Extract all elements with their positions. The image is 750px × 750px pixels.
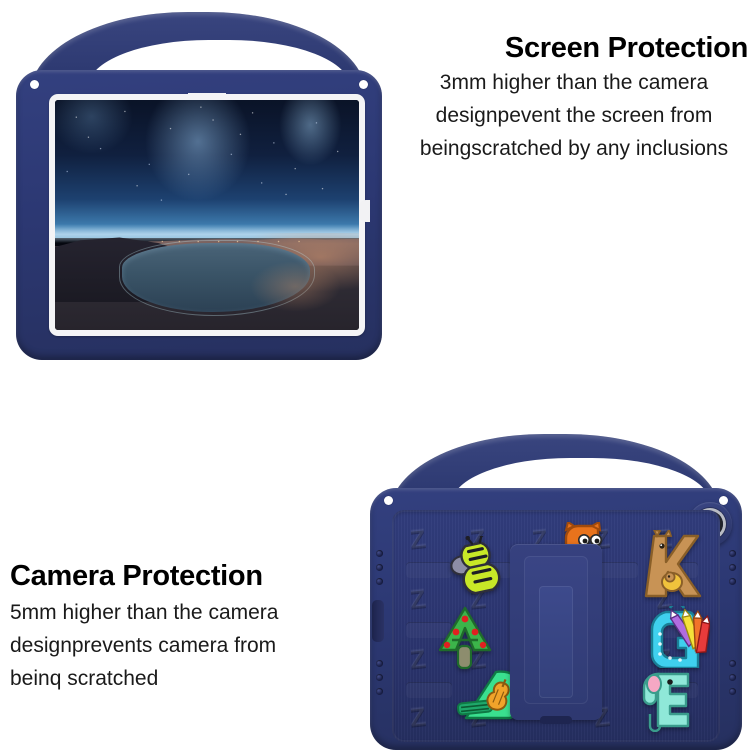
speaker-hole (376, 578, 383, 585)
figure-letter-a-mushroom (434, 604, 496, 670)
figure-letter-e-elephant (640, 670, 702, 732)
back-textured-panel: Z Z Z Z Z Z Z Z Z Z Z Z Z Z Z (392, 510, 720, 742)
kickstand[interactable] (510, 544, 602, 720)
case-body-front (16, 70, 382, 360)
side-button-cutout (359, 200, 370, 222)
tablet-screen (55, 100, 359, 330)
speaker-hole (376, 564, 383, 571)
wallpaper-distant-lights (152, 239, 322, 244)
kickstand-inner-panel (524, 556, 588, 704)
case-body-back: Z Z Z Z Z Z Z Z Z Z Z Z Z Z Z (370, 488, 742, 750)
product-marketing-image: Screen Protection 3mm higher than the ca… (0, 0, 750, 750)
emboss-letter-z: Z (408, 583, 427, 615)
emboss-letter-z: Z (408, 523, 427, 555)
wallpaper-stars (55, 100, 359, 243)
emboss-letter-z: Z (408, 701, 427, 733)
figure-letter-k-kangaroo (640, 530, 702, 602)
camera-protection-line-1: 5mm higher than the camera (10, 596, 350, 629)
speaker-hole (376, 660, 383, 667)
lanyard-hole-left (30, 80, 39, 89)
lanyard-hole-back-left (384, 496, 393, 505)
speaker-hole (376, 688, 383, 695)
camera-protection-line-3: beinq scratched (10, 662, 350, 695)
speaker-hole (729, 550, 736, 557)
speaker-hole (729, 578, 736, 585)
wallpaper-warm-light-2 (250, 261, 341, 312)
figure-letter-g-bag (644, 606, 710, 668)
screen-protection-text-block: Screen Protection 3mm higher than the ca… (398, 30, 750, 165)
screen-protection-line-1: 3mm higher than the camera (398, 66, 750, 99)
screen-protection-line-3: beingscratched by any inclusions (398, 132, 750, 165)
speaker-hole (729, 674, 736, 681)
speaker-hole (729, 564, 736, 571)
kickstand-core (539, 586, 573, 698)
speaker-hole (729, 688, 736, 695)
screen-protection-title: Screen Protection (398, 30, 750, 66)
figure-letter-b-bee (448, 536, 508, 598)
camera-protection-title: Camera Protection (10, 556, 350, 596)
side-button-port (372, 600, 384, 642)
speaker-hole (376, 550, 383, 557)
speaker-hole (376, 674, 383, 681)
emboss-letter-z: Z (408, 643, 427, 675)
kickstand-pull-tab[interactable] (540, 716, 572, 724)
speaker-hole (729, 660, 736, 667)
tablet-case-back-view: Z Z Z Z Z Z Z Z Z Z Z Z Z Z Z (362, 432, 750, 750)
tablet-case-front-view (8, 8, 390, 364)
lanyard-hole-right (359, 80, 368, 89)
screen-bezel (49, 94, 365, 336)
screen-protection-line-2: designpevent the screen from (398, 99, 750, 132)
camera-protection-line-2: designprevents camera from (10, 629, 350, 662)
camera-protection-text-block: Camera Protection 5mm higher than the ca… (10, 556, 350, 695)
